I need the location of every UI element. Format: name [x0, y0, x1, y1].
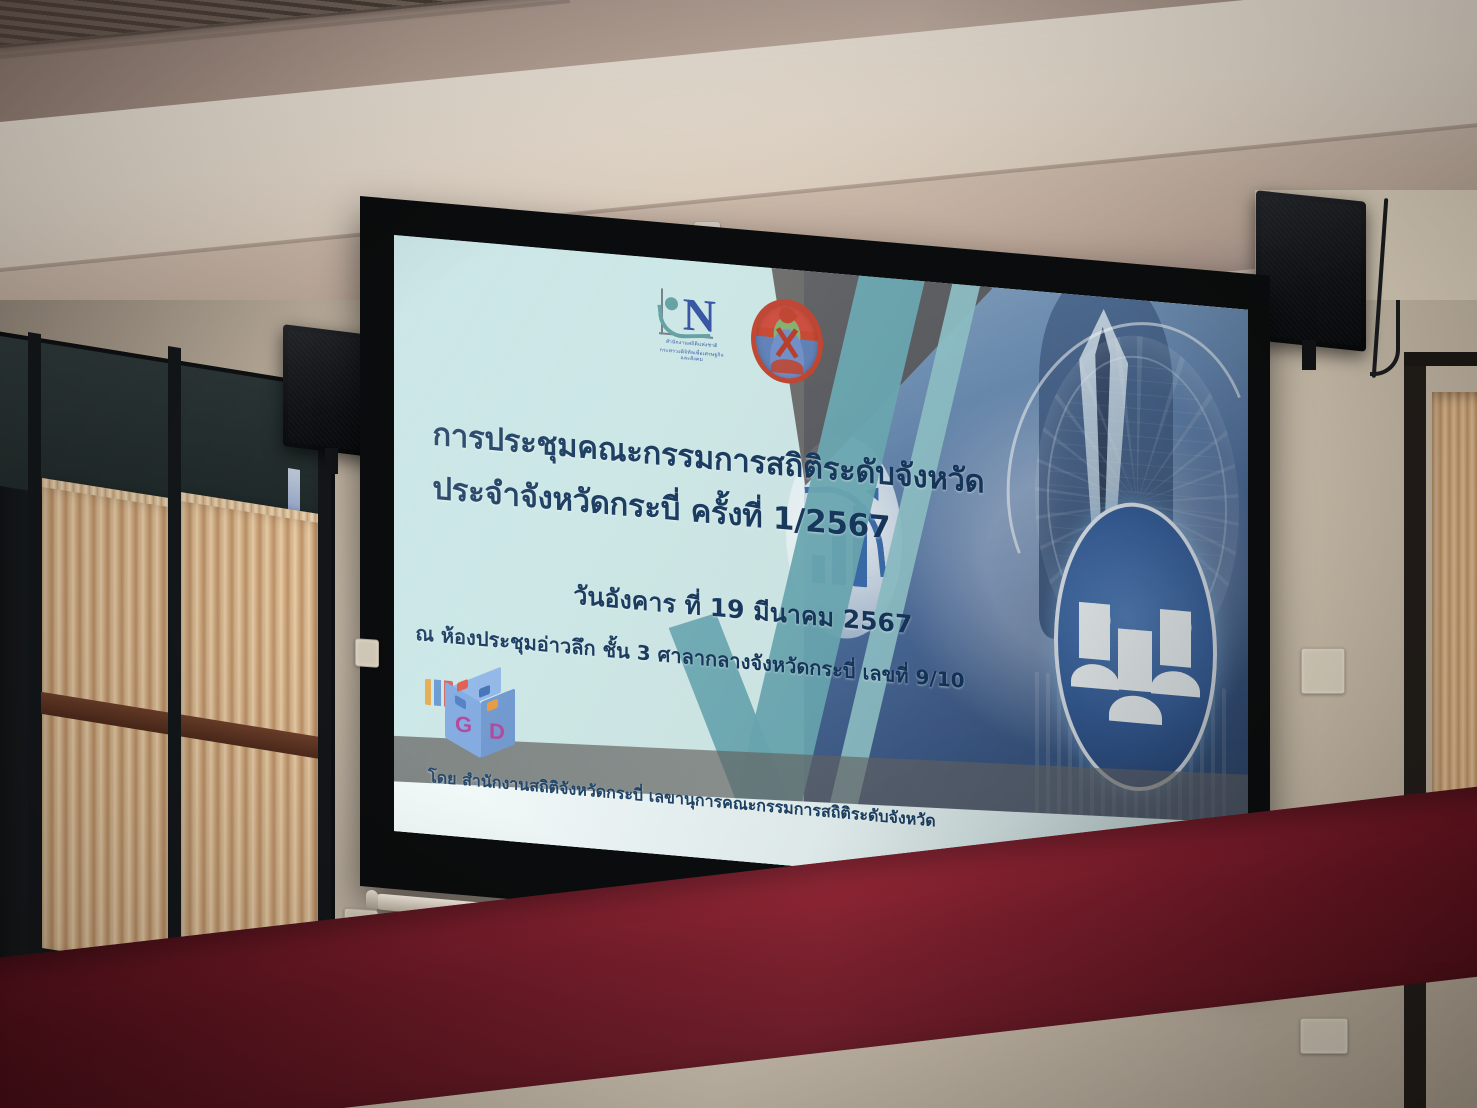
speaker-mount-right	[1302, 340, 1316, 370]
slide-footer-line: โดย สำนักงานสถิติจังหวัดกระบี่ เลขานุการ…	[428, 765, 936, 834]
wall-speaker-right	[1256, 190, 1366, 352]
speaker-cable-loop	[1370, 300, 1400, 376]
window-frame-right-top	[1404, 352, 1477, 366]
window-mullion	[28, 332, 41, 1034]
wall-outlet-left-upper[interactable]	[355, 638, 379, 668]
presentation-slide: N สำนักงานสถิติแห่งชาติ กระทรวงดิจิทัลเพ…	[394, 235, 1248, 906]
slide-text-block: การประชุมคณะกรรมการสถิติระดับจังหวัด ประ…	[394, 235, 1248, 906]
wall-outlet-right[interactable]	[1300, 1018, 1348, 1054]
window-mullion	[168, 346, 181, 1038]
meeting-room-photo: N สำนักงานสถิติแห่งชาติ กระทรวงดิจิทัลเพ…	[0, 0, 1477, 1108]
projection-screen-surface: N สำนักงานสถิติแห่งชาติ กระทรวงดิจิทัลเพ…	[394, 235, 1248, 906]
window-frame-right	[1404, 352, 1426, 1108]
speaker-mount-left	[325, 448, 338, 474]
light-switch-panel[interactable]	[1301, 648, 1345, 694]
speaker-grill	[1261, 196, 1361, 347]
